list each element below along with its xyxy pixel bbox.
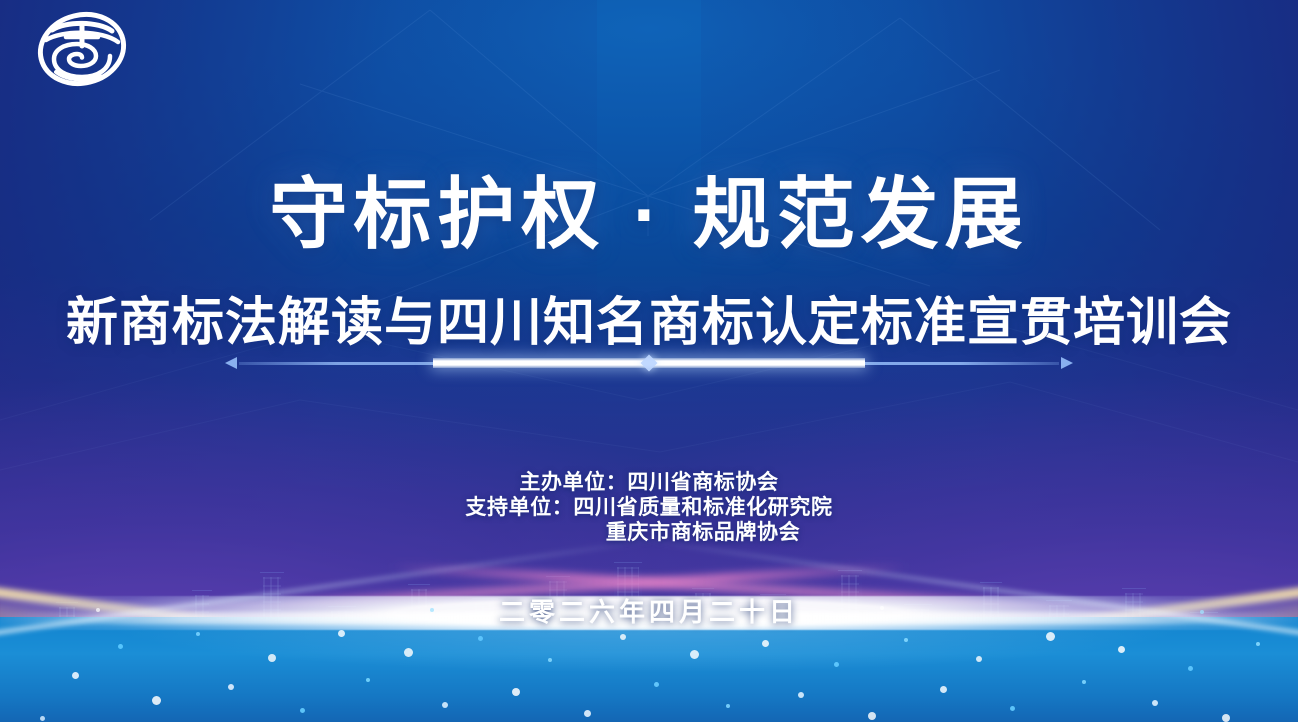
poster-main-title: 守标护权 · 规范发展 [0,174,1298,256]
organizer-value: 四川省质量和标准化研究院 [573,495,832,520]
organizer-row: 支持单位：重庆市商标品牌协会 [0,520,1298,545]
event-poster: 守标护权 · 规范发展 新商标法解读与四川知名商标认定标准宣贯培训会 主办单位：… [0,0,1298,722]
divider-arrow-right-icon [1061,357,1073,369]
association-logo[interactable] [22,6,142,92]
organizer-value: 重庆市商标品牌协会 [606,520,800,545]
organizer-label: 支持单位： [465,495,573,520]
poster-subtitle: 新商标法解读与四川知名商标认定标准宣贯培训会 [0,295,1298,351]
divider-arrow-left-icon [225,357,237,369]
organizer-row: 主办单位：四川省商标协会 [0,470,1298,495]
decorative-divider [225,352,1073,374]
organizer-value: 四川省商标协会 [627,470,778,495]
organizer-row: 支持单位：四川省质量和标准化研究院 [0,495,1298,520]
organizer-label: 主办单位： [519,470,627,495]
organizer-block: 主办单位：四川省商标协会 支持单位：四川省质量和标准化研究院 支持单位：重庆市商… [0,470,1298,545]
association-emblem-icon [22,6,142,92]
event-date: 二零二六年四月二十日 [0,592,1298,629]
